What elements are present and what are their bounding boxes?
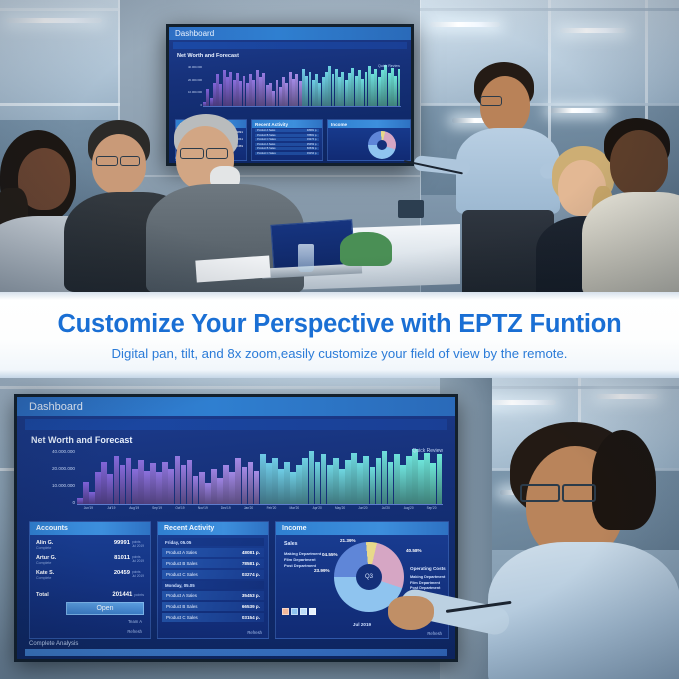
- account-status: Complete: [36, 546, 53, 550]
- chart-bar: [321, 454, 327, 505]
- x-axis-tick: Jul'20: [374, 506, 397, 514]
- account-date: Jul 2019: [132, 544, 144, 548]
- dashboard-title: Dashboard: [175, 29, 214, 38]
- x-axis-tick: Oct'19: [169, 506, 192, 514]
- dashboard-bottom-strip: [25, 649, 447, 656]
- chart-bar: [181, 465, 187, 505]
- x-axis-tick: May'20: [329, 506, 352, 514]
- x-axis-tick: Jan'20: [237, 506, 260, 514]
- chart-bar: [424, 453, 430, 505]
- x-axis-tick: Jun'19: [77, 506, 100, 514]
- net-worth-area-chart[interactable]: [77, 449, 443, 505]
- accounts-total-row: Total 201441 points: [36, 592, 144, 598]
- accounts-refresh-link[interactable]: Refresh: [127, 629, 142, 634]
- chart-bar: [333, 458, 339, 505]
- x-axis-tick: Mar'20: [283, 506, 306, 514]
- chart-bar: [83, 482, 89, 505]
- banner-subline: Digital pan, tilt, and 8x zoom,easily cu…: [112, 346, 568, 361]
- plant-pot-top: [398, 200, 424, 218]
- ceiling-light: [560, 28, 626, 33]
- eyeglasses: [120, 156, 140, 166]
- chart-bar: [272, 458, 278, 505]
- chart-bar: [430, 463, 436, 505]
- chart-bar: [363, 456, 369, 505]
- top-photo: Dashboard Net Worth and Forecast Quick R…: [0, 0, 679, 292]
- eyeglasses: [96, 156, 118, 166]
- chart-bar: [296, 465, 302, 505]
- chart-bar: [168, 469, 174, 505]
- chart-bar: [376, 458, 382, 505]
- chart-bar: [412, 449, 418, 505]
- quick-review-label-top: Quick Review: [378, 64, 400, 68]
- dashboard-toolbar-strip[interactable]: [25, 419, 447, 430]
- chart-bar: [187, 460, 193, 505]
- chart-title-top: Net Worth and Forecast: [177, 53, 403, 59]
- eyeglasses: [206, 148, 228, 159]
- chart-bar: [302, 458, 308, 505]
- income-panel-title: Income: [276, 522, 448, 535]
- attendee-man-right: [600, 118, 679, 292]
- accounts-team-label[interactable]: Team A: [128, 619, 142, 624]
- eyeglasses: [480, 96, 502, 106]
- chart-bar: [418, 460, 424, 505]
- chart-bar: [309, 451, 315, 505]
- chart-bar: [398, 69, 401, 107]
- color-swatch[interactable]: [291, 608, 298, 615]
- net-worth-chart-block: Net Worth and Forecast 40.000.00020.000.…: [31, 435, 445, 515]
- chart-y-axis: 40.000.00020.000.00010.000.0000: [31, 449, 75, 505]
- net-worth-chart-title: Net Worth and Forecast: [31, 435, 445, 445]
- donut-percent-label: 40.58%: [406, 548, 422, 553]
- chart-bar: [156, 472, 162, 505]
- chart-bar: [211, 469, 217, 505]
- dashboard-title-bar[interactable]: Dashboard: [17, 397, 455, 416]
- chart-bar: [406, 456, 412, 505]
- chart-bar: [126, 458, 132, 505]
- activity-value: 35453 p.: [242, 593, 260, 598]
- color-swatch[interactable]: [300, 608, 307, 615]
- chart-bar: [101, 462, 107, 505]
- chart-bar: [260, 454, 266, 505]
- chart-bar: [266, 463, 272, 505]
- chart-bar: [175, 456, 181, 505]
- activity-value: 48081 p.: [242, 550, 260, 555]
- chart-bar: [223, 465, 229, 505]
- account-date: Jul 2019: [132, 574, 144, 578]
- income-donut-center: Q3: [356, 564, 382, 590]
- ceiling-light: [6, 18, 102, 23]
- y-axis-top: 40.000.00020.000.00010.000.0000: [177, 65, 202, 107]
- donut-percent-label: 23.99%: [314, 568, 330, 573]
- y-axis-tick: 40.000.000: [188, 65, 202, 69]
- plant-top: [340, 232, 392, 266]
- chart-bar: [437, 454, 443, 505]
- y-axis-tick: 0: [72, 500, 75, 505]
- presenter-shirt: [488, 542, 679, 679]
- x-axis-tick: Jun'20: [352, 506, 375, 514]
- department-item[interactable]: Making Department: [410, 575, 445, 581]
- activity-value: 03274 p.: [242, 572, 260, 577]
- y-axis-tick: 20.000.000: [52, 466, 75, 471]
- income-color-swatches[interactable]: [282, 608, 316, 615]
- ceiling-light: [430, 22, 500, 27]
- chart-bar: [388, 462, 394, 505]
- activity-group-label: Friday, 05.05: [162, 538, 264, 546]
- account-value: 81011: [114, 555, 130, 561]
- income-costs-label: Operating Costs: [410, 566, 446, 571]
- activity-value: 03154 p.: [242, 615, 260, 620]
- accounts-rows: Alin G.Complete99991pointsJul 2019Artur …: [36, 540, 144, 585]
- x-axis-tick: Apr'20: [306, 506, 329, 514]
- activity-row[interactable]: Product A Sales48081 p.: [162, 548, 264, 557]
- x-axis-tick: Aug'20: [397, 506, 420, 514]
- chart-bar: [284, 462, 290, 505]
- account-row[interactable]: Alin G.Complete99991pointsJul 2019: [36, 540, 144, 550]
- chart-bar: [199, 472, 205, 505]
- chart-bar: [95, 472, 101, 505]
- account-status: Complete: [36, 561, 56, 565]
- dashboard-title-bar-top: Dashboard: [169, 27, 411, 40]
- activity-label: Product B Sales: [166, 604, 197, 609]
- account-status: Complete: [36, 576, 54, 580]
- complete-analysis-label[interactable]: Complete Analysis: [29, 641, 78, 647]
- quick-review-label[interactable]: Quick Review: [412, 448, 443, 454]
- activity-row[interactable]: Product C Sales03154 p.: [162, 613, 264, 622]
- y-axis-tick: 40.000.000: [52, 449, 75, 454]
- chart-bar: [382, 451, 388, 505]
- banner-headline: Customize Your Perspective with EPTZ Fun…: [57, 310, 621, 339]
- presenter-hand: [388, 596, 434, 630]
- y-axis-tick: 20.000.000: [188, 78, 202, 82]
- donut-center-label: Q3: [365, 574, 373, 580]
- x-axis-tick: Jul'19: [100, 506, 123, 514]
- x-axis-tick: Sep'19: [146, 506, 169, 514]
- feature-banner: Customize Your Perspective with EPTZ Fun…: [0, 292, 679, 378]
- bottom-photo: Dashboard Net Worth and Forecast 40.000.…: [0, 378, 679, 679]
- income-title-top: Income: [328, 120, 410, 128]
- income-refresh-link[interactable]: Refresh: [427, 631, 442, 636]
- chart-bar: [235, 458, 241, 505]
- chart-baseline: [77, 504, 443, 505]
- color-swatch[interactable]: [309, 608, 316, 615]
- chart-bar: [144, 471, 150, 505]
- chart-bar: [357, 463, 363, 505]
- chart-bar: [315, 462, 321, 505]
- y-axis-tick: 10.000.000: [52, 483, 75, 488]
- activity-row[interactable]: Product B Sales78581 p.: [162, 559, 264, 568]
- x-axis-tick: Aug'19: [123, 506, 146, 514]
- chart-bar: [114, 456, 120, 505]
- account-row[interactable]: Artur G.Complete81011pointsJul 2019: [36, 555, 144, 565]
- x-axis-tick: Nov'19: [191, 506, 214, 514]
- activity-value: 78581 p.: [242, 561, 260, 566]
- activity-value: 66539 p.: [242, 604, 260, 609]
- activity-row[interactable]: Product B Sales66539 p.: [162, 602, 264, 611]
- accounts-total-unit: points: [134, 593, 144, 597]
- water-glass-top: [298, 244, 314, 272]
- chart-bar: [327, 465, 333, 505]
- chart-bar: [205, 483, 211, 505]
- recent-activity-rows: Friday, 05.05Product A Sales48081 p.Prod…: [162, 538, 264, 624]
- chart-bar: [351, 453, 357, 505]
- activity-refresh-link[interactable]: Refresh: [247, 630, 262, 635]
- presenter-bottom: [480, 422, 679, 679]
- account-date: Jul 2019: [132, 559, 144, 563]
- eyeglasses: [562, 484, 596, 502]
- x-axis-tick: Dec'19: [214, 506, 237, 514]
- chart-bar: [138, 460, 144, 505]
- income-sales-departments: Making DepartmentFilm DepartmentPost Dep…: [284, 551, 321, 569]
- income-panel-top: Income: [327, 119, 411, 161]
- activity-row[interactable]: Product A Sales35453 p.: [162, 591, 264, 600]
- recent-activity-panel: Recent Activity Friday, 05.05Product A S…: [157, 521, 269, 639]
- eyeglasses: [520, 484, 560, 502]
- chart-bar: [162, 462, 168, 505]
- chart-bar: [400, 465, 406, 505]
- accounts-total-label: Total: [36, 592, 49, 598]
- chart-bar: [217, 478, 223, 505]
- y-axis-tick: 0: [200, 103, 202, 107]
- chart-bar: [339, 469, 345, 505]
- product-feature-page: Dashboard Net Worth and Forecast Quick R…: [0, 0, 679, 679]
- chart-x-axis: Jun'19Jul'19Aug'19Sep'19Oct'19Nov'19Dec'…: [77, 506, 443, 514]
- chart-bar: [120, 465, 126, 505]
- chart-bar: [345, 460, 351, 505]
- chart-bar: [150, 463, 156, 505]
- chart-bar: [107, 474, 113, 505]
- y-axis-tick: 10.000.000: [188, 90, 202, 94]
- chart-block-top: Net Worth and Forecast Quick Review 40.0…: [177, 53, 403, 115]
- income-sales-label: Sales: [284, 541, 298, 547]
- dashboard-title-text: Dashboard: [29, 401, 83, 413]
- color-swatch[interactable]: [282, 608, 289, 615]
- chart-bar: [193, 476, 199, 505]
- chart-bar: [242, 467, 248, 505]
- activity-group-label: Monday, 05.05: [162, 581, 264, 589]
- area-chart-top: [203, 65, 401, 107]
- chart-bar: [248, 462, 254, 505]
- ceiling-light: [482, 400, 556, 405]
- accounts-total-value: 201441: [112, 592, 132, 598]
- recent-activity-panel-title: Recent Activity: [158, 522, 268, 535]
- account-value: 20459: [114, 570, 130, 576]
- accounts-open-button[interactable]: Open: [66, 602, 144, 615]
- donut-percent-label: 21.39%: [340, 538, 356, 543]
- chart-bar: [132, 469, 138, 505]
- chart-bar: [229, 472, 235, 505]
- chart-bar: [290, 472, 296, 505]
- activity-label: Product A Sales: [166, 550, 197, 555]
- activity-row[interactable]: Product C Sales03274 p.: [162, 570, 264, 579]
- x-axis-tick: Feb'20: [260, 506, 283, 514]
- chart-bar: [370, 467, 376, 505]
- chart-bar: [254, 471, 260, 505]
- activity-label: Product A Sales: [166, 593, 197, 598]
- ceiling-light: [596, 394, 658, 399]
- accounts-panel: Accounts Alin G.Complete99991pointsJul 2…: [29, 521, 151, 639]
- accounts-panel-title: Accounts: [30, 522, 150, 535]
- eyeglasses: [180, 148, 204, 159]
- x-axis-tick: Sep'20: [420, 506, 443, 514]
- activity-label: Product C Sales: [166, 615, 198, 620]
- account-row[interactable]: Kate S.Complete20459pointsJul 2019: [36, 570, 144, 580]
- chart-bar: [278, 469, 284, 505]
- activity-label: Product B Sales: [166, 561, 197, 566]
- dashboard-strip-top: [173, 42, 407, 49]
- chart-bar: [394, 454, 400, 505]
- donut-percent-label: 04.55%: [322, 552, 338, 557]
- account-value: 99991: [114, 540, 130, 546]
- activity-label: Product C Sales: [166, 572, 198, 577]
- donut-center-top: [377, 140, 387, 150]
